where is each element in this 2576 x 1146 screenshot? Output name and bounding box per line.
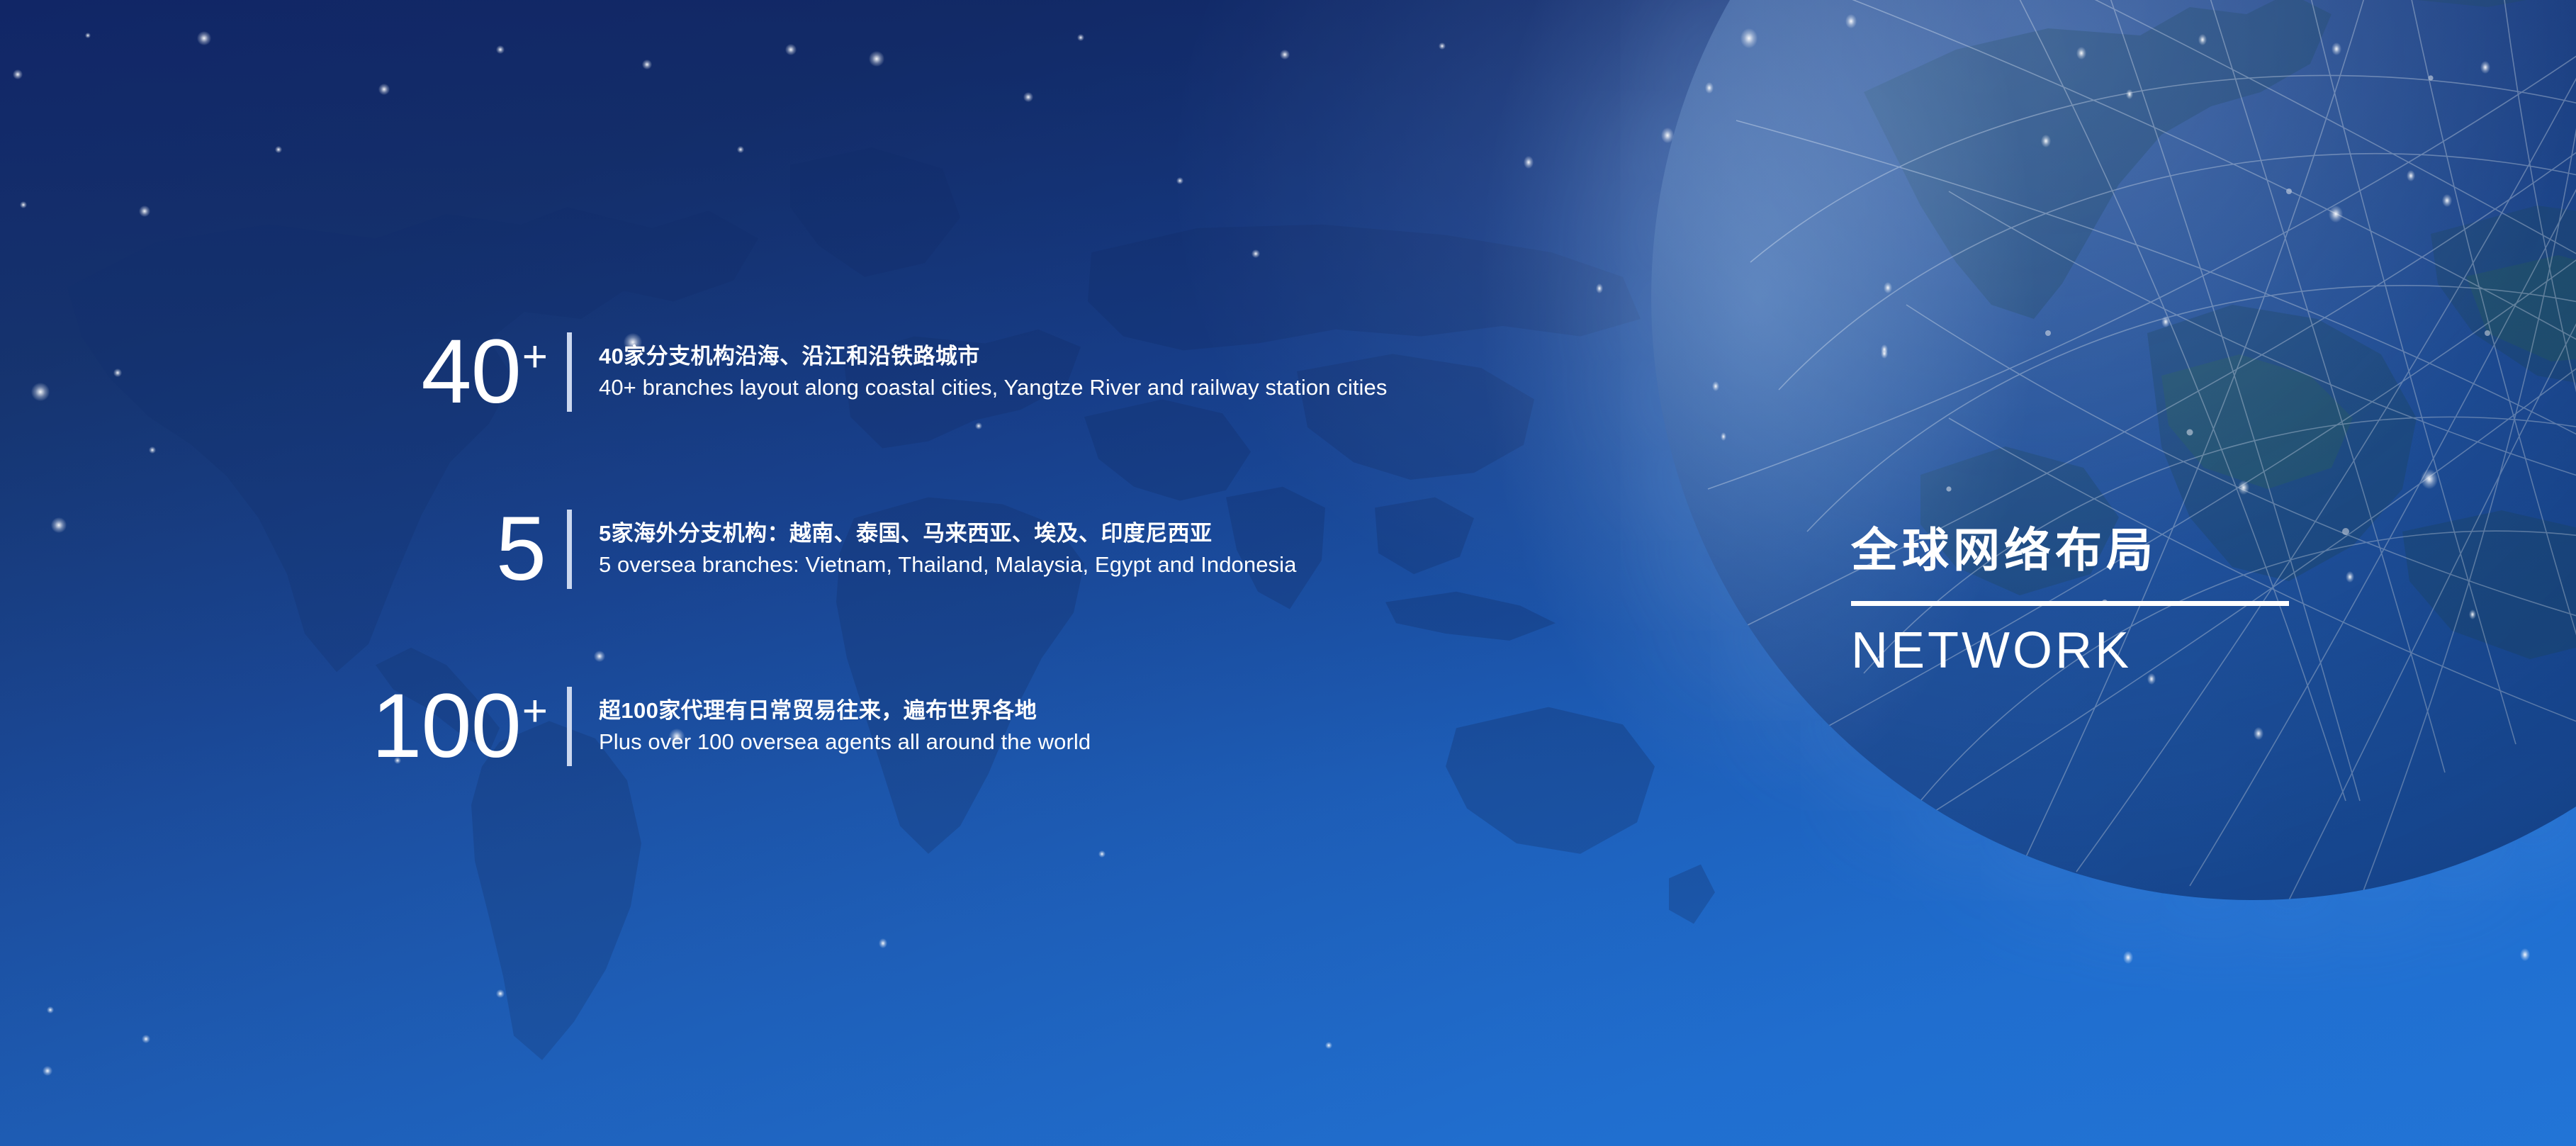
stat-row: 40+ 40家分支机构沿海、沿江和沿铁路城市 40+ branches layo… (0, 283, 1630, 461)
stat-number: 5 (0, 504, 567, 595)
stats-list: 40+ 40家分支机构沿海、沿江和沿铁路城市 40+ branches layo… (0, 283, 1630, 815)
stat-text: 5家海外分支机构：越南、泰国、马来西亚、埃及、印度尼西亚 5 oversea b… (572, 518, 1296, 580)
stat-number: 100+ (0, 681, 567, 772)
network-banner: 40+ 40家分支机构沿海、沿江和沿铁路城市 40+ branches layo… (0, 0, 2576, 1146)
stat-row: 5 5家海外分支机构：越南、泰国、马来西亚、埃及、印度尼西亚 5 oversea… (0, 461, 1630, 638)
section-title-cn: 全球网络布局 (1851, 524, 2305, 577)
stat-text: 40家分支机构沿海、沿江和沿铁路城市 40+ branches layout a… (572, 341, 1387, 403)
stat-divider (567, 332, 572, 412)
stat-text-cn: 40家分支机构沿海、沿江和沿铁路城市 (599, 341, 1387, 372)
stat-number-suffix: + (522, 687, 547, 736)
stat-number-value: 40 (421, 321, 520, 422)
stat-number-value: 5 (496, 498, 546, 600)
stat-number-value: 100 (371, 675, 521, 777)
stat-text: 超100家代理有日常贸易往来，遍布世界各地 Plus over 100 over… (572, 695, 1091, 758)
stat-divider (567, 510, 572, 589)
stat-text-en: 40+ branches layout along coastal cities… (599, 372, 1387, 403)
section-title-rule (1851, 601, 2289, 606)
section-title-en: NETWORK (1851, 624, 2305, 678)
section-title: 全球网络布局 NETWORK (1851, 524, 2305, 678)
stat-divider (567, 687, 572, 766)
stat-number-suffix: + (522, 332, 547, 381)
stat-text-en: 5 oversea branches: Vietnam, Thailand, M… (599, 549, 1296, 580)
stat-text-en: Plus over 100 oversea agents all around … (599, 726, 1091, 758)
stat-row: 100+ 超100家代理有日常贸易往来，遍布世界各地 Plus over 100… (0, 638, 1630, 815)
stat-text-cn: 超100家代理有日常贸易往来，遍布世界各地 (599, 695, 1091, 726)
stat-text-cn: 5家海外分支机构：越南、泰国、马来西亚、埃及、印度尼西亚 (599, 518, 1296, 549)
stat-number: 40+ (0, 327, 567, 417)
